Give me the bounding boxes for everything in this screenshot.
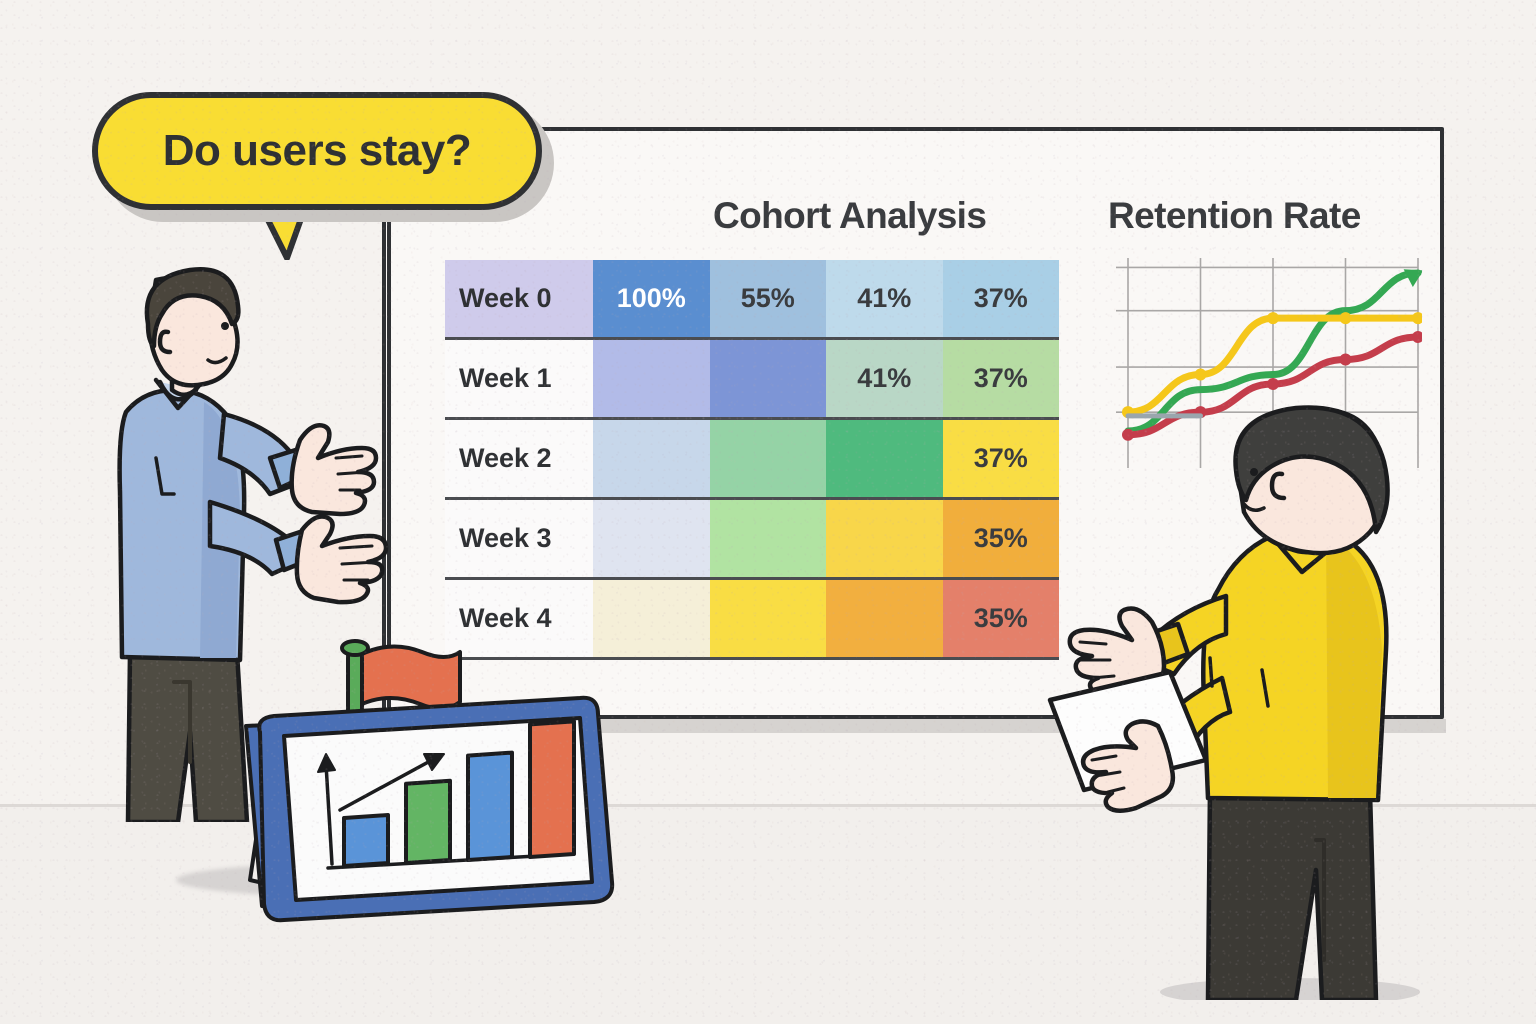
- tablet-bar: [344, 815, 388, 866]
- table-row: Week 141%37%: [445, 340, 1059, 420]
- cohort-cell: [826, 420, 943, 497]
- speech-bubble-text: Do users stay?: [163, 126, 471, 176]
- cohort-cell: [710, 420, 827, 497]
- tablet-bar: [406, 781, 450, 863]
- cohort-cell: [710, 340, 827, 417]
- presenter-right-figure: [1040, 400, 1460, 1000]
- retention-rate-title: Retention Rate: [1108, 195, 1361, 237]
- speech-bubble: Do users stay?: [92, 92, 542, 210]
- chart-data-point: [1340, 354, 1352, 366]
- cohort-cell: [710, 580, 827, 657]
- cohort-analysis-table: Week 0100%55%41%37%Week 141%37%Week 237%…: [445, 260, 1059, 660]
- cohort-cell: [826, 500, 943, 577]
- cohort-cell: [710, 500, 827, 577]
- cohort-cell: 55%: [710, 260, 827, 337]
- chart-data-point: [1267, 378, 1279, 390]
- table-row: Week 237%: [445, 420, 1059, 500]
- cohort-cell: [826, 580, 943, 657]
- cohort-analysis-title: Cohort Analysis: [713, 195, 986, 237]
- tablet-bar: [530, 721, 574, 857]
- tablet-easel: [236, 636, 616, 926]
- table-row: Week 0100%55%41%37%: [445, 260, 1059, 340]
- chart-data-point: [1412, 331, 1422, 343]
- cohort-cell: 100%: [593, 260, 710, 337]
- chart-data-point: [1267, 312, 1279, 324]
- cohort-cell: [593, 500, 710, 577]
- chart-data-point: [1195, 369, 1207, 381]
- chart-data-point: [1412, 312, 1422, 324]
- chart-data-point: [1340, 312, 1352, 324]
- cohort-row-label: Week 2: [445, 420, 593, 497]
- illustration-canvas: Cohort Analysis Retention Rate Week 0100…: [0, 0, 1536, 1024]
- cohort-cell: [593, 340, 710, 417]
- table-row: Week 335%: [445, 500, 1059, 580]
- tablet-bar: [468, 753, 512, 860]
- cohort-row-label: Week 3: [445, 500, 593, 577]
- cohort-row-label: Week 1: [445, 340, 593, 417]
- cohort-cell: 41%: [826, 340, 943, 417]
- cohort-cell: 37%: [943, 260, 1060, 337]
- cohort-cell: [593, 420, 710, 497]
- cohort-cell: 41%: [826, 260, 943, 337]
- cohort-row-label: Week 0: [445, 260, 593, 337]
